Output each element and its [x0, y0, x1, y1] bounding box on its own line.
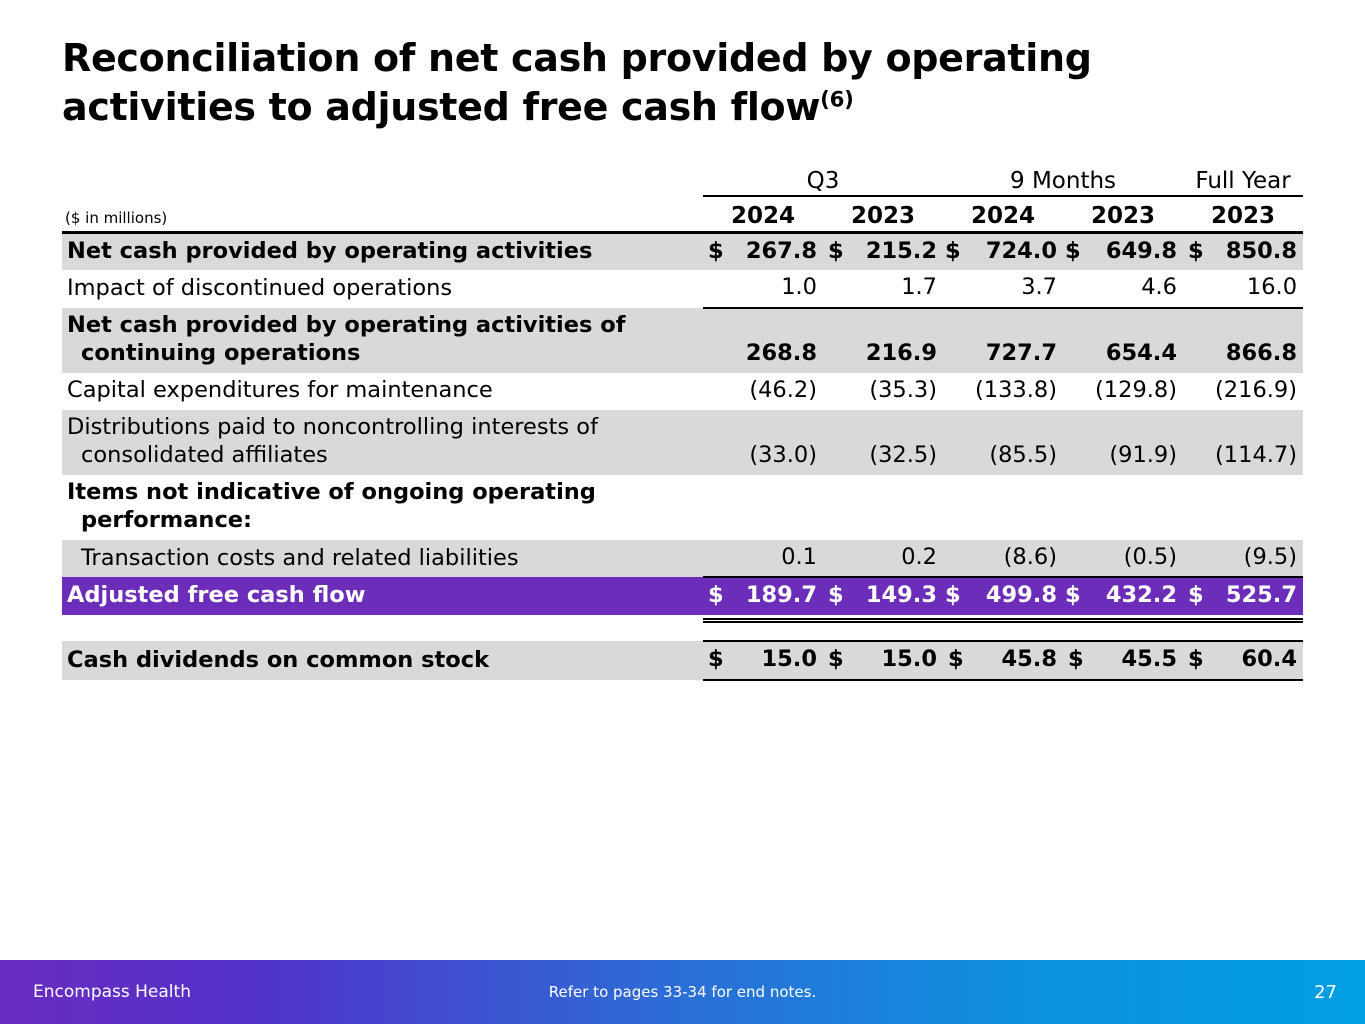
page-title: Reconciliation of net cash provided by o… — [62, 34, 1162, 133]
cell-continuing-9m-2024: 727.7 — [943, 308, 1063, 373]
cell-net-cash-q3-2023: $215.2 — [823, 232, 943, 270]
currency-symbol: $ — [708, 238, 724, 266]
table-year-header-row: ($ in millions) 2024 2023 2024 2023 2023 — [62, 196, 1303, 232]
cell-transaction-q3-2023: 0.2 — [823, 540, 943, 578]
title-footnote-marker: (6) — [820, 88, 853, 113]
table-row: Items not indicative of ongoing operatin… — [62, 475, 1303, 540]
slide-root: Reconciliation of net cash provided by o… — [0, 0, 1365, 1024]
cell-continuing-q3-2023: 216.9 — [823, 308, 943, 373]
cell-transaction-fy-2023: (9.5) — [1183, 540, 1303, 578]
table-row: Impact of discontinued operations 1.0 1.… — [62, 270, 1303, 308]
cell-value: 724.0 — [986, 238, 1057, 264]
cell-items-9m-2024 — [943, 475, 1063, 540]
double-rule — [1063, 618, 1183, 623]
cell-afcf-9m-2023: $432.2 — [1063, 577, 1183, 615]
double-rule — [1183, 618, 1303, 623]
cell-distributions-q3-2024: (33.0) — [703, 410, 823, 475]
currency-symbol: $ — [1188, 238, 1204, 266]
cell-value: 525.7 — [1226, 582, 1297, 608]
cell-distributions-9m-2024: (85.5) — [943, 410, 1063, 475]
cell-dividends-fy-2023: $60.4 — [1183, 641, 1303, 680]
cell-items-fy-2023 — [1183, 475, 1303, 540]
cell-value: 850.8 — [1226, 238, 1297, 264]
cell-capex-q3-2023: (35.3) — [823, 373, 943, 410]
cell-value: 149.3 — [866, 582, 937, 608]
cell-net-cash-9m-2024: $724.0 — [943, 232, 1063, 270]
year-header-9m-2023: 2023 — [1063, 196, 1183, 232]
table-row: Distributions paid to noncontrolling int… — [62, 410, 1303, 475]
cell-afcf-q3-2024: $189.7 — [703, 577, 823, 615]
cell-value: 189.7 — [746, 582, 817, 608]
units-note: ($ in millions) — [62, 196, 703, 232]
table-row-highlight: Adjusted free cash flow $189.7 $149.3 $4… — [62, 577, 1303, 615]
currency-symbol: $ — [708, 646, 724, 674]
currency-symbol: $ — [1065, 238, 1081, 266]
table-row: Net cash provided by operating activitie… — [62, 232, 1303, 270]
year-header-9m-2024: 2024 — [943, 196, 1063, 232]
year-header-q3-2024: 2024 — [703, 196, 823, 232]
cell-distributions-fy-2023: (114.7) — [1183, 410, 1303, 475]
row-label-impact-discontinued: Impact of discontinued operations — [62, 270, 703, 308]
cell-value: 15.0 — [881, 646, 937, 672]
cell-distributions-9m-2023: (91.9) — [1063, 410, 1183, 475]
row-label-text: Transaction costs and related liabilitie… — [67, 545, 697, 573]
year-header-fy-2023: 2023 — [1183, 196, 1303, 232]
year-header-q3-2023: 2023 — [823, 196, 943, 232]
cell-items-9m-2023 — [1063, 475, 1183, 540]
cell-impact-q3-2023: 1.7 — [823, 270, 943, 308]
cell-afcf-q3-2023: $149.3 — [823, 577, 943, 615]
double-rule — [943, 618, 1063, 623]
currency-symbol: $ — [1068, 646, 1084, 674]
cell-value: 499.8 — [986, 582, 1057, 608]
double-rule — [703, 618, 823, 623]
row-label-line-2: performance: — [67, 507, 697, 535]
cell-afcf-fy-2023: $525.7 — [1183, 577, 1303, 615]
currency-symbol: $ — [948, 646, 964, 674]
row-label-cash-dividends: Cash dividends on common stock — [62, 641, 703, 680]
cell-continuing-9m-2023: 654.4 — [1063, 308, 1183, 373]
cell-impact-q3-2024: 1.0 — [703, 270, 823, 308]
cell-dividends-9m-2023: $45.5 — [1063, 641, 1183, 680]
cell-capex-fy-2023: (216.9) — [1183, 373, 1303, 410]
group-header-full-year: Full Year — [1183, 162, 1303, 196]
currency-symbol: $ — [945, 238, 961, 266]
row-label-transaction-costs: Transaction costs and related liabilitie… — [62, 540, 703, 578]
cell-value: 45.8 — [1001, 646, 1057, 672]
title-line-2: activities to adjusted free cash flow — [62, 85, 820, 129]
row-label-line-1: Items not indicative of ongoing operatin… — [67, 479, 697, 507]
cell-capex-9m-2023: (129.8) — [1063, 373, 1183, 410]
cell-value: 432.2 — [1106, 582, 1177, 608]
row-label-line-2: consolidated affiliates — [67, 442, 697, 470]
group-header-q3: Q3 — [703, 162, 943, 196]
cell-transaction-q3-2024: 0.1 — [703, 540, 823, 578]
currency-symbol: $ — [1065, 582, 1081, 610]
table-row: Transaction costs and related liabilitie… — [62, 540, 1303, 578]
table-group-header-row: Q3 9 Months Full Year — [62, 162, 1303, 196]
cell-transaction-9m-2024: (8.6) — [943, 540, 1063, 578]
cell-value: 45.5 — [1122, 646, 1178, 672]
cell-impact-9m-2024: 3.7 — [943, 270, 1063, 308]
row-label-items-not-indicative: Items not indicative of ongoing operatin… — [62, 475, 703, 540]
reconciliation-table: Q3 9 Months Full Year ($ in millions) 20… — [62, 162, 1303, 681]
table-row: Capital expenditures for maintenance (46… — [62, 373, 1303, 410]
row-label-net-cash-operating: Net cash provided by operating activitie… — [62, 232, 703, 270]
cell-capex-9m-2024: (133.8) — [943, 373, 1063, 410]
cell-afcf-9m-2024: $499.8 — [943, 577, 1063, 615]
cell-items-q3-2024 — [703, 475, 823, 540]
cell-value: 15.0 — [761, 646, 817, 672]
row-label-distributions-nci: Distributions paid to noncontrolling int… — [62, 410, 703, 475]
footer-note: Refer to pages 33-34 for end notes. — [0, 983, 1365, 1001]
currency-symbol: $ — [708, 582, 724, 610]
table-row: Net cash provided by operating activitie… — [62, 308, 1303, 373]
cell-capex-q3-2024: (46.2) — [703, 373, 823, 410]
cell-value: 649.8 — [1106, 238, 1177, 264]
currency-symbol: $ — [1188, 582, 1204, 610]
cell-net-cash-fy-2023: $850.8 — [1183, 232, 1303, 270]
slide-footer: Encompass Health Refer to pages 33-34 fo… — [0, 960, 1365, 1024]
cell-continuing-q3-2024: 268.8 — [703, 308, 823, 373]
title-line-1: Reconciliation of net cash provided by o… — [62, 36, 1092, 80]
row-label-line-1: Distributions paid to noncontrolling int… — [67, 414, 697, 442]
currency-symbol: $ — [945, 582, 961, 610]
row-label-line-1: Net cash provided by operating activitie… — [67, 312, 697, 340]
cell-items-q3-2023 — [823, 475, 943, 540]
currency-symbol: $ — [1188, 646, 1204, 674]
cell-value: 60.4 — [1242, 646, 1298, 672]
cell-dividends-q3-2024: $15.0 — [703, 641, 823, 680]
cell-dividends-q3-2023: $15.0 — [823, 641, 943, 680]
footer-page-number: 27 — [1314, 982, 1337, 1003]
double-rule — [823, 618, 943, 623]
financial-table-container: Q3 9 Months Full Year ($ in millions) 20… — [62, 162, 1303, 681]
row-label-capex-maintenance: Capital expenditures for maintenance — [62, 373, 703, 410]
cell-value: 267.8 — [746, 238, 817, 264]
currency-symbol: $ — [828, 238, 844, 266]
table-row: Cash dividends on common stock $15.0 $15… — [62, 641, 1303, 680]
cell-impact-9m-2023: 4.6 — [1063, 270, 1183, 308]
cell-distributions-q3-2023: (32.5) — [823, 410, 943, 475]
currency-symbol: $ — [828, 646, 844, 674]
currency-symbol: $ — [828, 582, 844, 610]
cell-net-cash-9m-2023: $649.8 — [1063, 232, 1183, 270]
group-header-spacer — [62, 162, 703, 196]
group-header-9-months: 9 Months — [943, 162, 1183, 196]
cell-impact-fy-2023: 16.0 — [1183, 270, 1303, 308]
row-label-line-2: continuing operations — [67, 340, 697, 368]
cell-transaction-9m-2023: (0.5) — [1063, 540, 1183, 578]
row-label-adjusted-free-cash-flow: Adjusted free cash flow — [62, 577, 703, 615]
spacer-cell — [62, 615, 703, 641]
slide-title-text: Reconciliation of net cash provided by o… — [62, 34, 1162, 133]
row-label-net-cash-continuing: Net cash provided by operating activitie… — [62, 308, 703, 373]
cell-value: 215.2 — [866, 238, 937, 264]
cell-continuing-fy-2023: 866.8 — [1183, 308, 1303, 373]
cell-net-cash-q3-2024: $267.8 — [703, 232, 823, 270]
cell-dividends-9m-2024: $45.8 — [943, 641, 1063, 680]
